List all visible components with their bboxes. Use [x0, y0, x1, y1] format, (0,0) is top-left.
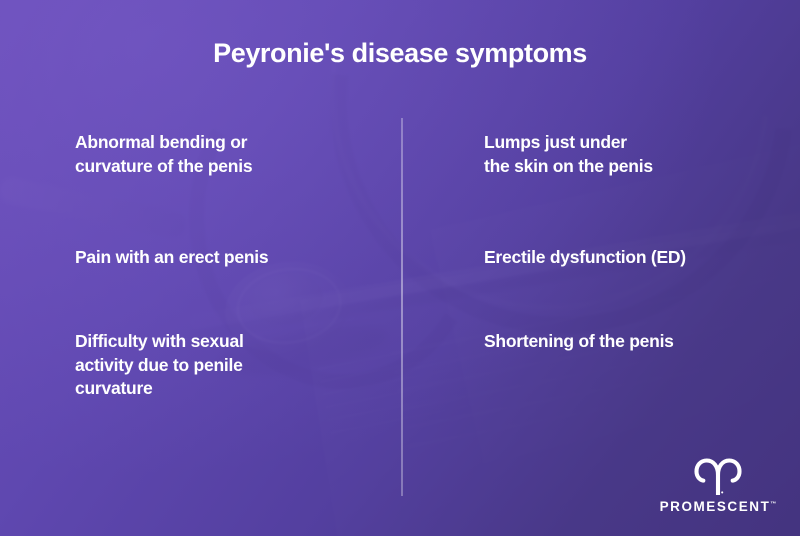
- symptom-line: Pain with an erect penis: [75, 246, 268, 270]
- symptom-item: Shortening of the penis: [484, 330, 674, 354]
- symptom-line: Erectile dysfunction (ED): [484, 246, 686, 270]
- symptom-line: activity due to penile: [75, 354, 244, 378]
- symptom-line: Abnormal bending or: [75, 131, 252, 155]
- symptom-line: curvature of the penis: [75, 155, 252, 179]
- symptom-item: Lumps just under the skin on the penis: [484, 131, 653, 178]
- symptom-line: Difficulty with sexual: [75, 330, 244, 354]
- logo-wordmark-text: PROMESCENT: [660, 499, 771, 514]
- trademark-symbol: ™: [770, 502, 776, 508]
- column-divider: [401, 118, 403, 496]
- symptom-line: Shortening of the penis: [484, 330, 674, 354]
- infographic-card: Peyronie's disease symptoms Abnormal ben…: [0, 0, 800, 536]
- symptom-item: Difficulty with sexual activity due to p…: [75, 330, 244, 401]
- symptom-item: Erectile dysfunction (ED): [484, 246, 686, 270]
- symptom-line: Lumps just under: [484, 131, 653, 155]
- content-layer: Peyronie's disease symptoms Abnormal ben…: [0, 0, 800, 536]
- symptom-item: Abnormal bending or curvature of the pen…: [75, 131, 252, 178]
- symptom-line: curvature: [75, 377, 244, 401]
- page-title: Peyronie's disease symptoms: [0, 38, 800, 69]
- aries-horns-logo-icon: [694, 457, 742, 495]
- symptom-item: Pain with an erect penis: [75, 246, 268, 270]
- symptom-line: the skin on the penis: [484, 155, 653, 179]
- logo-wordmark: PROMESCENT™: [658, 499, 778, 514]
- promescent-logo: PROMESCENT™: [658, 457, 778, 514]
